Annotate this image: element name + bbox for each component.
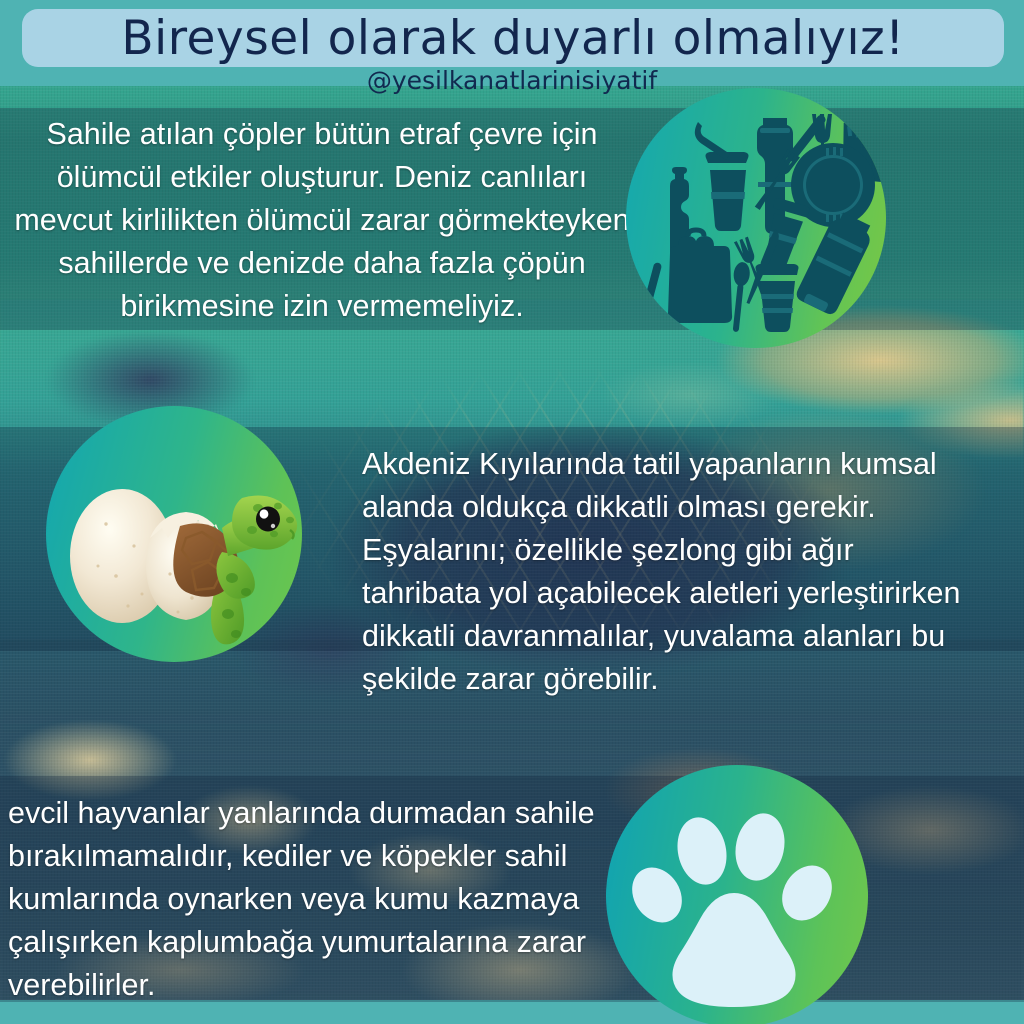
infographic-poster: Bireysel olarak duyarlı olmalıyız! @yesi… [0, 0, 1024, 1024]
paragraph-pets: evcil hayvanlar yanlarında durmadan sahi… [8, 792, 628, 1007]
paragraph-litter: Sahile atılan çöpler bütün etraf çevre i… [8, 113, 636, 328]
plastic-waste-icon [626, 88, 886, 348]
page-title: Bireysel olarak duyarlı olmalıyız! [22, 9, 1004, 67]
hatchling-turtle-egg-icon [46, 406, 302, 662]
paw-print-icon [606, 765, 868, 1024]
social-handle: @yesilkanatlarinisiyatif [0, 66, 1024, 95]
paragraph-beach-equipment: Akdeniz Kıyılarında tatil yapanların kum… [362, 443, 962, 701]
